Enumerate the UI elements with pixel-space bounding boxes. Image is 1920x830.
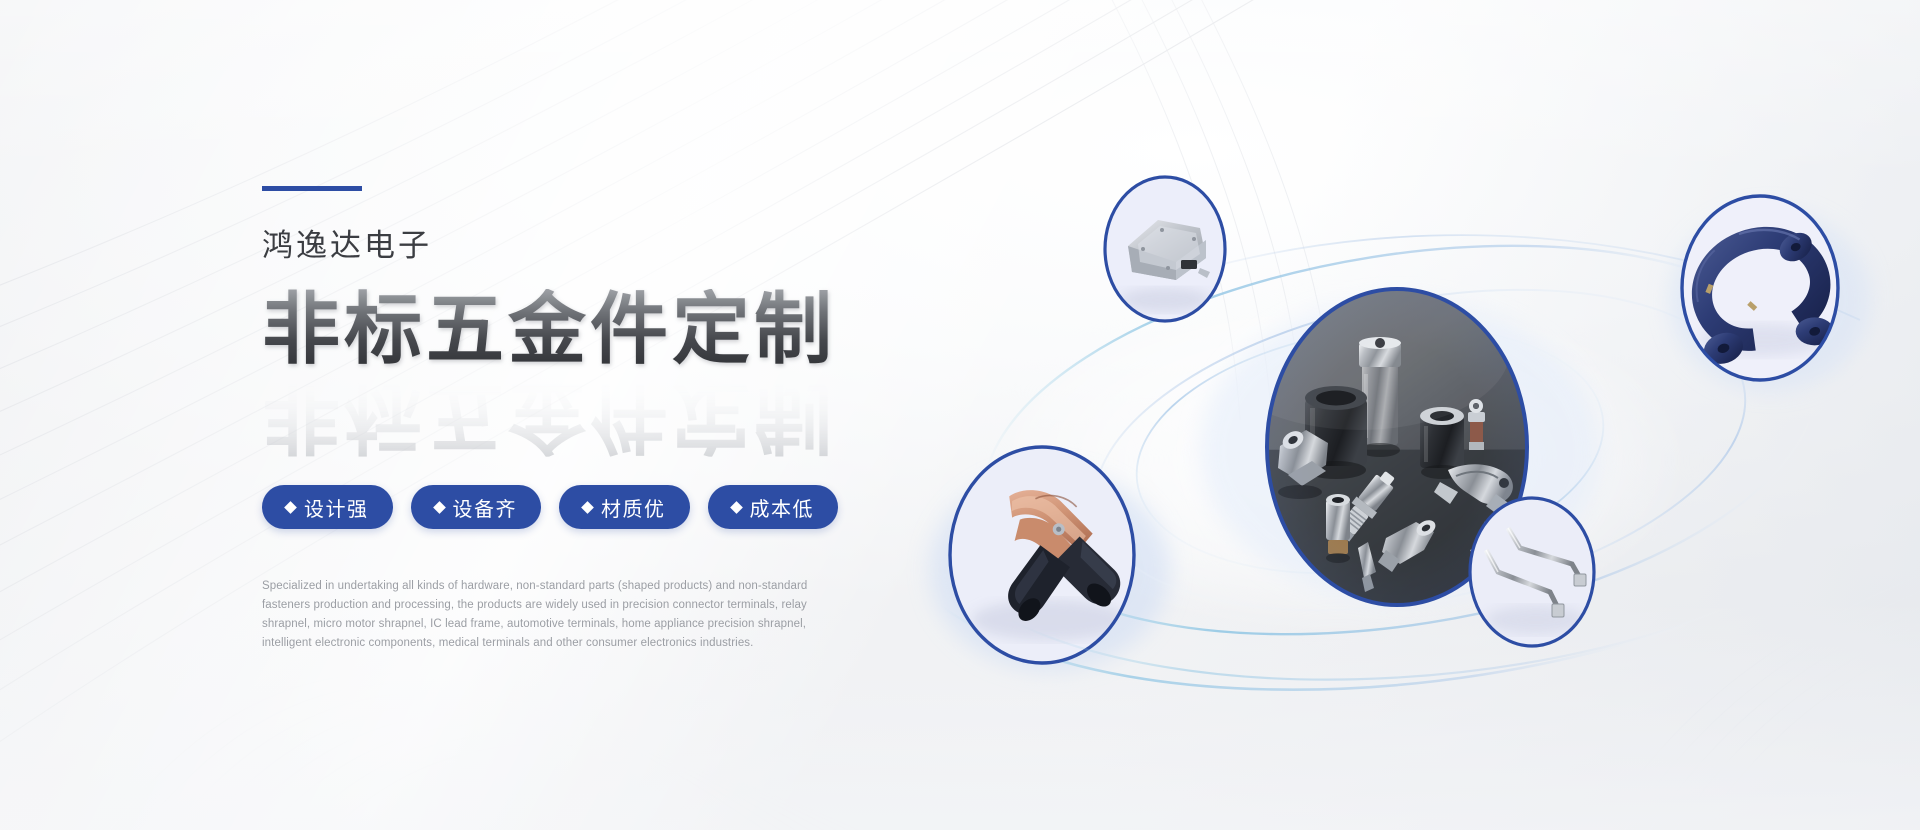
headline-wrapper: 非标五金件定制 非标五金件定制 (262, 289, 902, 437)
hero-banner: 鸿逸达电子 非标五金件定制 非标五金件定制 设计强 设备齐 材质优 成本低 (0, 0, 1920, 830)
diamond-icon (284, 501, 297, 514)
feature-pill-cost[interactable]: 成本低 (708, 485, 839, 529)
product-circle-battery-clamp (950, 447, 1138, 663)
product-showcase (900, 150, 1920, 710)
product-circle-metal-enclosure-box (1105, 177, 1225, 321)
feature-pill-label: 设计强 (304, 493, 369, 522)
description-text: Specialized in undertaking all kinds of … (262, 577, 822, 653)
feature-pill-label: 材质优 (601, 493, 666, 522)
product-circle-bent-metal-pins (1470, 498, 1594, 646)
page-title: 非标五金件定制 (262, 289, 902, 371)
diamond-icon (581, 501, 594, 514)
feature-pill-equipment[interactable]: 设备齐 (411, 485, 542, 529)
feature-pill-material[interactable]: 材质优 (559, 485, 690, 529)
feature-pill-label: 成本低 (750, 493, 815, 522)
feature-pill-design[interactable]: 设计强 (262, 485, 393, 529)
accent-bar (262, 186, 362, 191)
brand-name: 鸿逸达电子 (262, 229, 902, 263)
diamond-icon (433, 501, 446, 514)
feature-pill-label: 设备齐 (453, 493, 518, 522)
feature-pill-list: 设计强 设备齐 材质优 成本低 (262, 485, 902, 529)
headline-reflection: 非标五金件定制 (262, 375, 836, 457)
hero-text-block: 鸿逸达电子 非标五金件定制 非标五金件定制 设计强 设备齐 材质优 成本低 (262, 186, 902, 653)
diamond-icon (730, 501, 743, 514)
